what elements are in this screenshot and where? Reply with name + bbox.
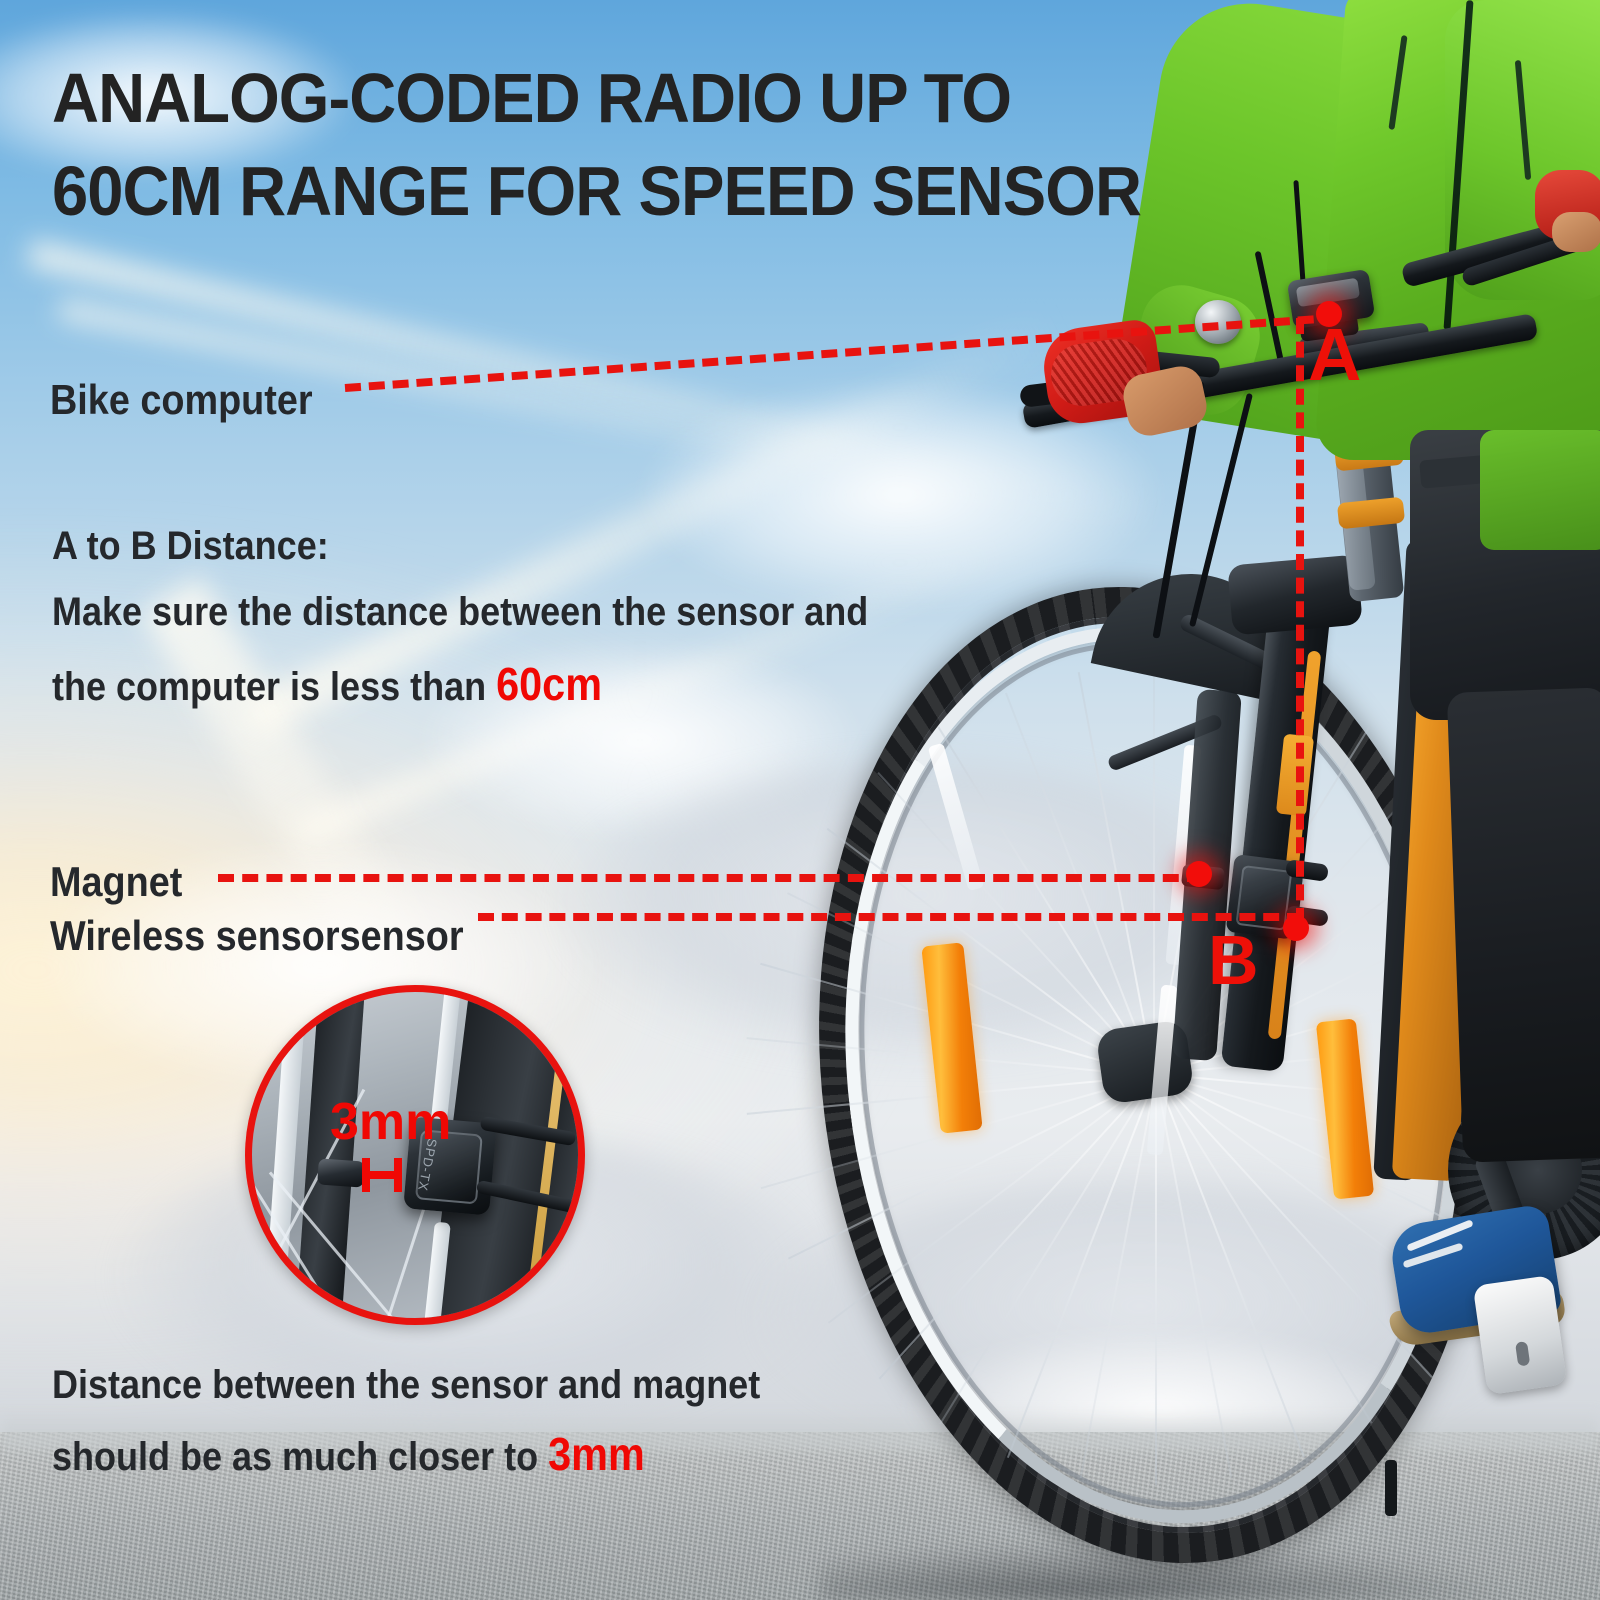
- infographic-canvas: A B ANALOG-CODED RADIO UP TO 60CM RANGE …: [0, 0, 1600, 1600]
- page-title: ANALOG-CODED RADIO UP TO 60CM RANGE FOR …: [52, 52, 1224, 238]
- leader-line-sensor: [478, 913, 1303, 921]
- gap-line-2-prefix: should be as much closer to: [52, 1435, 548, 1479]
- point-a-label: A: [1308, 318, 1361, 392]
- tire-valve: [1385, 1460, 1397, 1516]
- gap-measure-marker: [362, 1158, 402, 1192]
- gap-line-1: Distance between the sensor and magnet: [52, 1363, 760, 1408]
- label-bike-computer: Bike computer: [50, 376, 313, 424]
- leader-line-magnet: [218, 874, 1203, 882]
- spoke: [1153, 665, 1155, 1075]
- label-magnet: Magnet: [50, 858, 182, 906]
- distance-heading: A to B Distance:: [52, 524, 329, 569]
- cyclist-bike-photo: [0, 0, 1600, 1600]
- fork-crown: [1227, 554, 1363, 635]
- rider-fingers: [1552, 212, 1600, 252]
- sensor-gap-detail-inset: SPD-TX 3mm: [245, 985, 585, 1325]
- distance-line-1: Make sure the distance between the senso…: [52, 590, 868, 635]
- distance-line-2: the computer is less than 60cm: [52, 657, 602, 711]
- title-line-2: 60CM RANGE FOR SPEED SENSOR: [52, 145, 1224, 238]
- jacket-hem: [1480, 430, 1600, 550]
- gap-value: 3mm: [548, 1428, 645, 1480]
- pedal: [1473, 1275, 1568, 1395]
- inset-magnet: [317, 1158, 365, 1187]
- distance-value: 60cm: [496, 658, 602, 710]
- rider-leg: [1447, 687, 1600, 1162]
- line-a-to-b: [1296, 318, 1304, 924]
- inset-spoke: [358, 1197, 429, 1325]
- point-b-label: B: [1208, 925, 1259, 995]
- point-b-dot: [1283, 915, 1309, 941]
- gap-line-2: should be as much closer to 3mm: [52, 1427, 645, 1481]
- label-wireless-sensor: Wireless sensorsensor: [50, 912, 464, 960]
- title-line-1: ANALOG-CODED RADIO UP TO: [52, 52, 1224, 145]
- spoke: [878, 1075, 1156, 1379]
- distance-line-2-prefix: the computer is less than: [52, 665, 496, 709]
- inset-measure-label: 3mm: [330, 1096, 451, 1148]
- magnet-dot: [1186, 861, 1212, 887]
